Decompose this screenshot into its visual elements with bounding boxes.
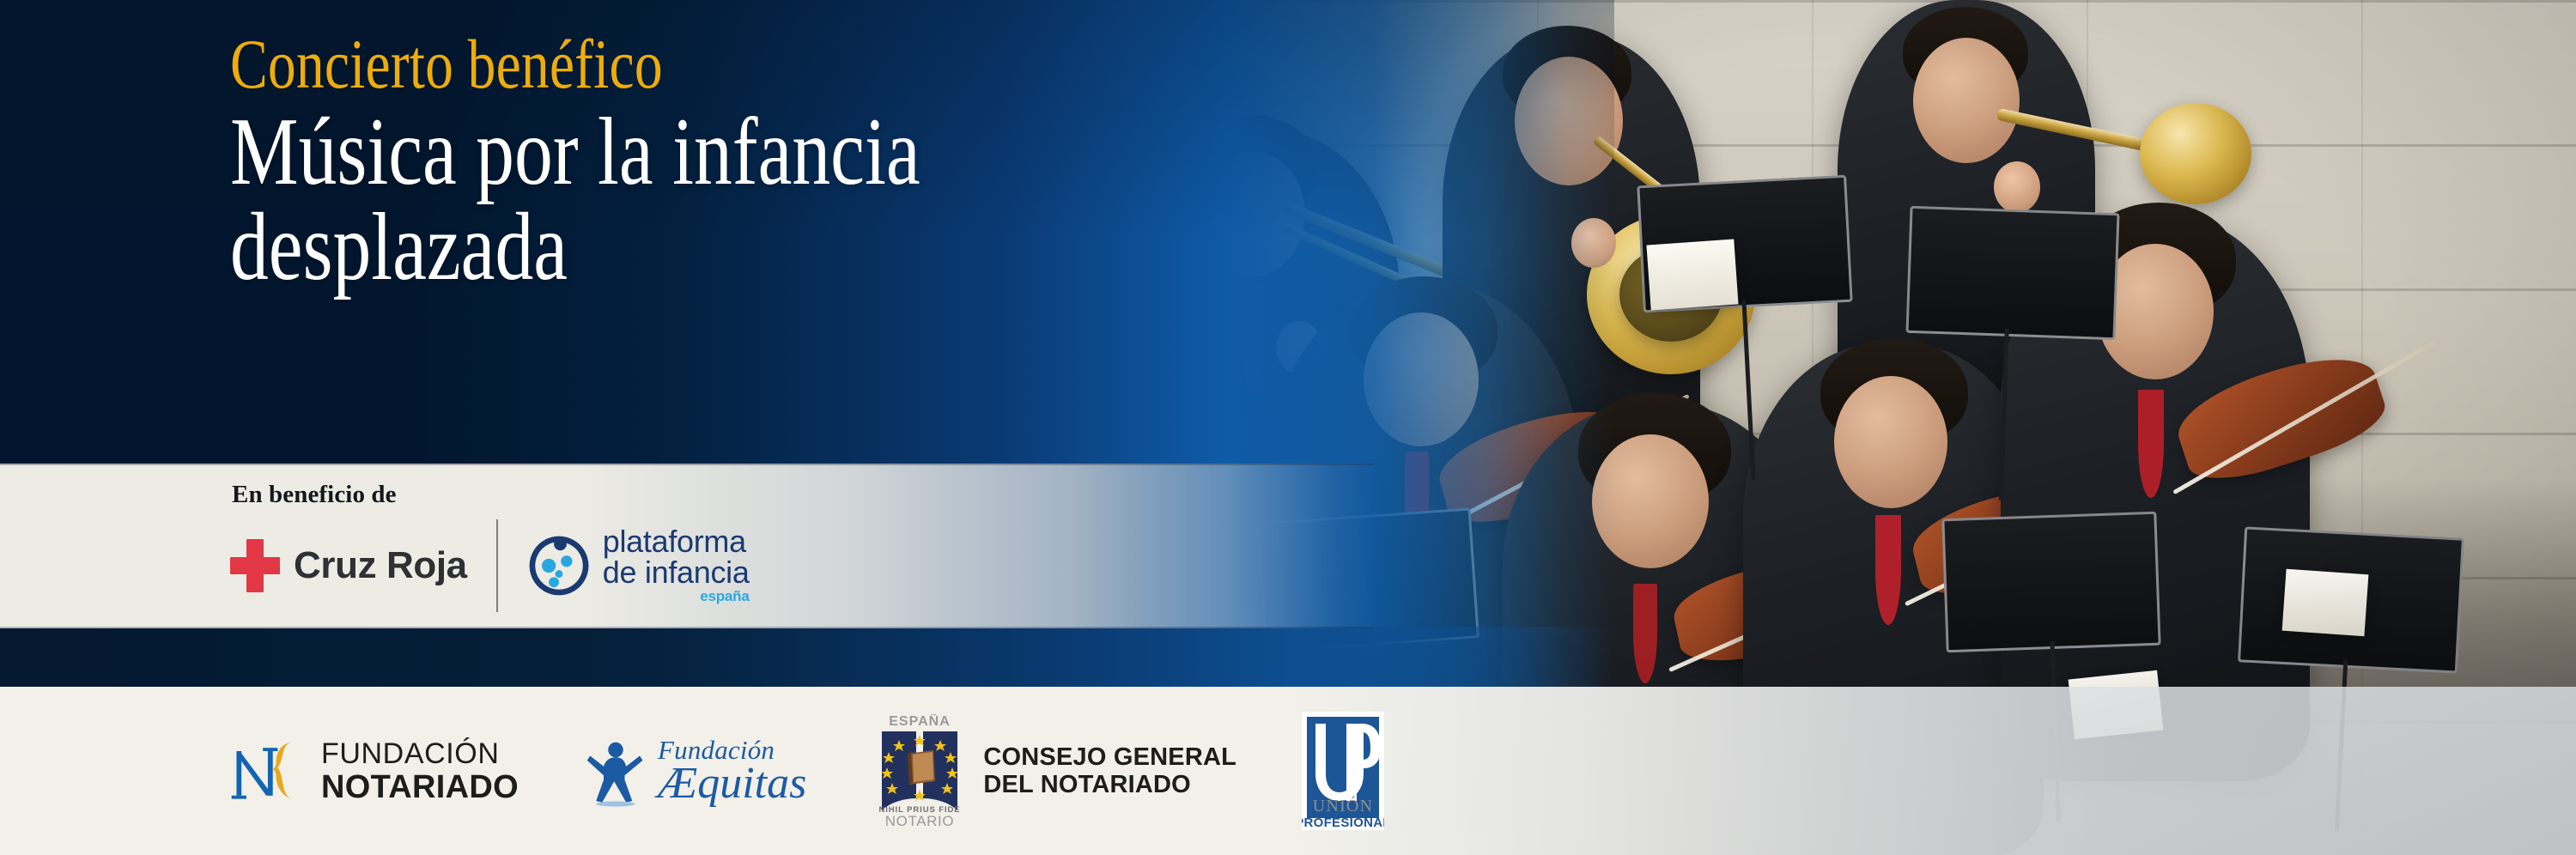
- consejo-wordmark: CONSEJO GENERAL DEL NOTARIADO: [983, 743, 1236, 799]
- consejo-line-1: CONSEJO GENERAL: [983, 743, 1236, 771]
- title-block: Concierto benéfico Música por la infanci…: [230, 29, 1093, 295]
- svg-text:PROFESIONAL: PROFESIONAL: [1302, 816, 1384, 830]
- fundacion-notariado-line-1: FUNDACIÓN: [321, 739, 519, 768]
- logo-consejo-general-del-notariado[interactable]: ESPAÑA: [872, 714, 1236, 828]
- headline: Música por la infancia desplazada: [230, 105, 920, 295]
- logo-plataforma-de-infancia[interactable]: plataforma de infancia españa: [527, 526, 750, 603]
- svg-text:ESPAÑA: ESPAÑA: [890, 714, 951, 729]
- headline-line-1: Música por la infancia: [230, 105, 920, 200]
- svg-text:NOTARIO: NOTARIO: [885, 813, 954, 828]
- footer-logo-row: FUNDACIÓN NOTARIADO Fundación Æquitas: [225, 712, 1384, 830]
- navy-divider-strip: [0, 627, 1614, 687]
- beneficiary-label: En beneficio de: [232, 481, 750, 509]
- plataforma-line-3: españa: [603, 590, 750, 604]
- cruz-roja-wordmark: Cruz Roja: [294, 544, 467, 587]
- fundacion-notariado-wordmark: FUNDACIÓN NOTARIADO: [321, 739, 519, 803]
- logo-union-profesional[interactable]: UNIÓN PROFESIONAL: [1302, 712, 1384, 830]
- aequitas-figure-icon: [584, 735, 647, 807]
- union-profesional-monogram-icon: UNIÓN PROFESIONAL: [1302, 712, 1384, 830]
- svg-text:UNIÓN: UNIÓN: [1313, 795, 1373, 816]
- red-cross-icon: [230, 539, 280, 592]
- headline-line-2: desplazada: [230, 200, 920, 295]
- notariado-crest-icon: ESPAÑA: [872, 714, 968, 828]
- aequitas-wordmark: Fundación Æquitas: [658, 737, 806, 806]
- aequitas-line-2: Æquitas: [658, 761, 806, 806]
- logo-divider: [496, 519, 498, 612]
- fundacion-notariado-line-2: NOTARIADO: [321, 771, 519, 803]
- concert-banner: Concierto benéfico Música por la infanci…: [0, 0, 2576, 855]
- plataforma-infancia-circle-icon: [527, 534, 591, 597]
- consejo-line-2: DEL NOTARIADO: [983, 771, 1236, 798]
- kicker-text: Concierto benéfico: [230, 29, 920, 100]
- footer-logo-bar: FUNDACIÓN NOTARIADO Fundación Æquitas: [0, 687, 2576, 855]
- beneficiary-band: En beneficio de Cruz Roja: [0, 464, 1374, 628]
- plataforma-line-2: de infancia: [603, 557, 750, 587]
- plataforma-wordmark: plataforma de infancia españa: [603, 526, 750, 603]
- notariado-n-bracket-icon: [225, 730, 307, 812]
- logo-fundacion-aequitas[interactable]: Fundación Æquitas: [584, 735, 806, 807]
- beneficiary-inner: En beneficio de Cruz Roja: [230, 465, 750, 627]
- logo-fundacion-notariado[interactable]: FUNDACIÓN NOTARIADO: [225, 730, 519, 812]
- beneficiary-logo-row: Cruz Roja: [230, 519, 750, 612]
- plataforma-line-1: plataforma: [603, 526, 750, 556]
- logo-cruz-roja[interactable]: Cruz Roja: [230, 539, 467, 592]
